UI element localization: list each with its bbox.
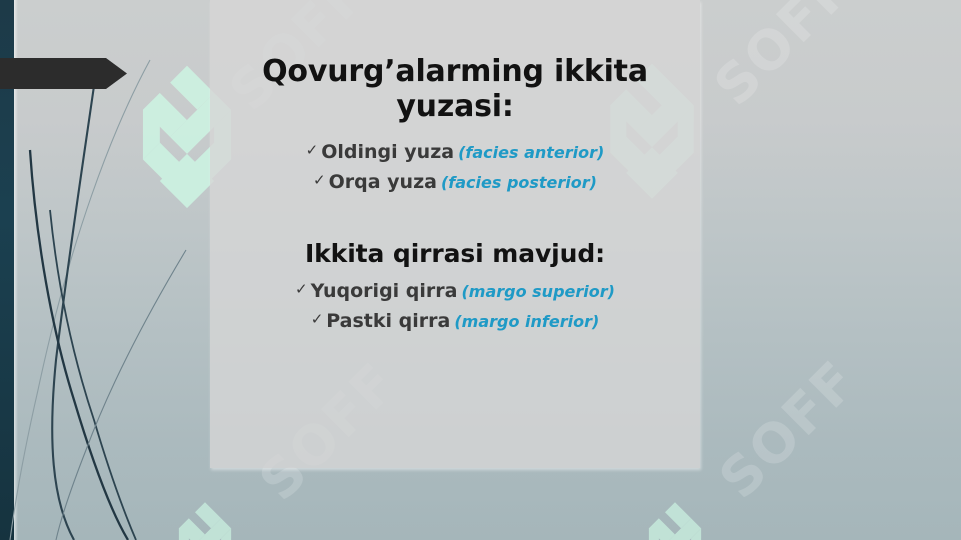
bullet-list-2: ✓Yuqorigi qirra(margo superior) ✓Pastki … — [224, 277, 686, 336]
page-title: Qovurg’alarming ikkita yuzasi: — [224, 54, 686, 124]
presentation-slide: SOFFSOFFSOFFSOFF Qovurg’alarming ikkita … — [0, 0, 961, 540]
grass-decoration — [0, 60, 230, 540]
bullet-latin-term: (margo superior) — [461, 282, 614, 301]
bullet-label: Orqa yuza — [329, 171, 437, 193]
list-item: ✓Oldingi yuza(facies anterior) — [224, 138, 686, 167]
list-item: ✓Orqa yuza(facies posterior) — [224, 168, 686, 197]
bullet-latin-term: (margo inferior) — [454, 312, 599, 331]
check-icon: ✓ — [306, 139, 319, 162]
list-item: ✓Pastki qirra(margo inferior) — [224, 307, 686, 336]
bullet-list-1: ✓Oldingi yuza(facies anterior) ✓Orqa yuz… — [224, 138, 686, 197]
watermark-text: SOFF — [707, 348, 869, 510]
section-spacer — [224, 197, 686, 239]
check-icon: ✓ — [313, 169, 326, 192]
section-heading: Ikkita qirrasi mavjud: — [224, 239, 686, 269]
soff-logo-icon — [640, 500, 710, 540]
bullet-latin-term: (facies posterior) — [441, 173, 597, 192]
check-icon: ✓ — [311, 308, 324, 331]
list-item: ✓Yuqorigi qirra(margo superior) — [224, 277, 686, 306]
bullet-group-2: Ikkita qirrasi mavjud: ✓Yuqorigi qirra(m… — [224, 239, 686, 336]
bullet-latin-term: (facies anterior) — [458, 143, 604, 162]
bullet-label: Oldingi yuza — [321, 141, 454, 163]
check-icon: ✓ — [295, 278, 308, 301]
watermark-text: SOFF — [702, 0, 864, 118]
bullet-label: Yuqorigi qirra — [311, 280, 458, 302]
arrow-banner — [0, 58, 128, 89]
bullet-label: Pastki qirra — [326, 310, 450, 332]
slide-content: Qovurg’alarming ikkita yuzasi: ✓Oldingi … — [210, 0, 700, 468]
bullet-group-1: ✓Oldingi yuza(facies anterior) ✓Orqa yuz… — [224, 138, 686, 197]
